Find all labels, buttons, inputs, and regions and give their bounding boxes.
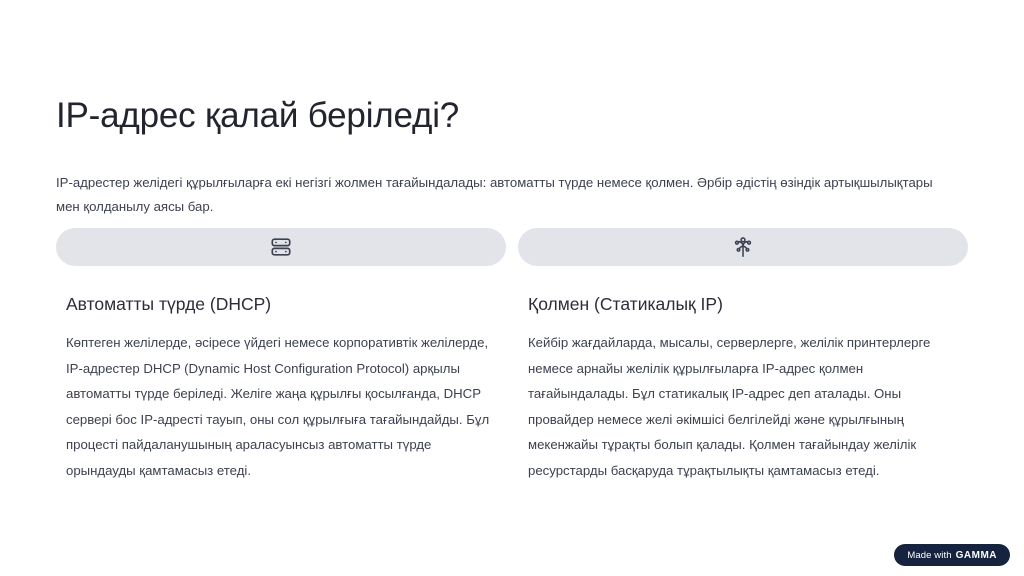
card-icon-pill-automatic (56, 228, 506, 266)
card-heading-manual: Қолмен (Статикалық IP) (528, 292, 968, 316)
badge-made-with-label: Made with (907, 550, 951, 561)
card-heading-automatic: Автоматты түрде (DHCP) (66, 292, 506, 316)
manual-hand-icon (732, 236, 754, 258)
card-manual-static-ip: Қолмен (Статикалық IP) Кейбір жағдайлард… (518, 228, 968, 484)
slide-root: IP-адрес қалай беріледі? IP-адрестер жел… (0, 0, 1024, 576)
server-icon (270, 236, 292, 258)
made-with-gamma-badge[interactable]: Made with GAMMA (894, 544, 1010, 566)
page-title: IP-адрес қалай беріледі? (56, 94, 459, 138)
card-icon-pill-manual (518, 228, 968, 266)
card-automatic-dhcp: Автоматты түрде (DHCP) Көптеген желілерд… (56, 228, 506, 484)
card-body-manual: Кейбір жағдайларда, мысалы, серверлерге,… (528, 330, 965, 484)
cards-container: Автоматты түрде (DHCP) Көптеген желілерд… (56, 228, 968, 484)
card-body-automatic: Көптеген желілерде, әсіресе үйдегі немес… (66, 330, 496, 484)
intro-paragraph: IP-адрестер желідегі құрылғыларға екі не… (56, 171, 956, 219)
badge-brand-label: GAMMA (956, 550, 997, 561)
